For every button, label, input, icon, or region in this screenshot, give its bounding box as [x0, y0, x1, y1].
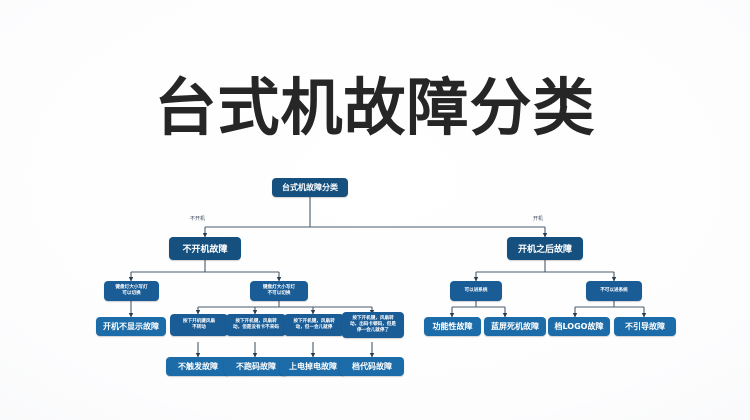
node-bluescreen-crash-fault[interactable]: 蓝屏死机故障 [484, 317, 546, 336]
node-can-enter-system[interactable]: 可以进系统 [450, 281, 502, 301]
node-no-display-fault[interactable]: 开机不显示故障 [96, 317, 166, 336]
node-no-bootloader-fault[interactable]: 不引导故障 [614, 317, 676, 336]
node-root[interactable]: 台式机故障分类 [272, 178, 348, 197]
node-keyboard-led-not-switchable[interactable]: 键盘灯大小写灯 不可以切换 [250, 281, 308, 301]
node-fan-not-spinning[interactable]: 按下开机键风扇 不转动 [170, 314, 228, 336]
edge-label-left: 不开机 [190, 215, 205, 222]
node-no-boot-fault[interactable]: 不开机故障 [169, 237, 241, 260]
node-fan-spins-stops[interactable]: 按下开机键，风扇转 动，但一会儿就停 [284, 314, 344, 336]
node-stuck-code-fault[interactable]: 档代码故障 [340, 357, 404, 376]
node-keyboard-led-switchable[interactable]: 键盘灯大小写灯 可以切换 [104, 281, 159, 301]
node-no-post-code-fault[interactable]: 不跑码故障 [224, 357, 288, 376]
node-stuck-logo-fault[interactable]: 档LOGO故障 [548, 317, 610, 336]
node-after-boot-fault[interactable]: 开机之后故障 [507, 237, 583, 260]
node-no-trigger-fault[interactable]: 不触发故障 [166, 357, 230, 376]
slide-canvas: 台式机故障分类 [0, 0, 750, 420]
edge-label-right: 开机 [533, 215, 543, 222]
node-power-drop-fault[interactable]: 上电掉电故障 [280, 357, 346, 376]
org-chart-diagram: 不开机 开机 台式机故障分类 不开机故障 开机之后故障 键盘灯大小写灯 可以切换… [0, 0, 750, 420]
node-fan-spins-code-stops[interactable]: 按下开机键，风扇转 动，出码卡顿码，但是 停一会儿就停了 [342, 312, 404, 338]
node-functional-fault[interactable]: 功能性故障 [424, 317, 481, 336]
node-fan-spins-no-code[interactable]: 按下开机键，风扇转 动，但是没有卡不来码 [226, 314, 286, 336]
node-cannot-enter-system[interactable]: 不可以进系统 [586, 281, 642, 301]
